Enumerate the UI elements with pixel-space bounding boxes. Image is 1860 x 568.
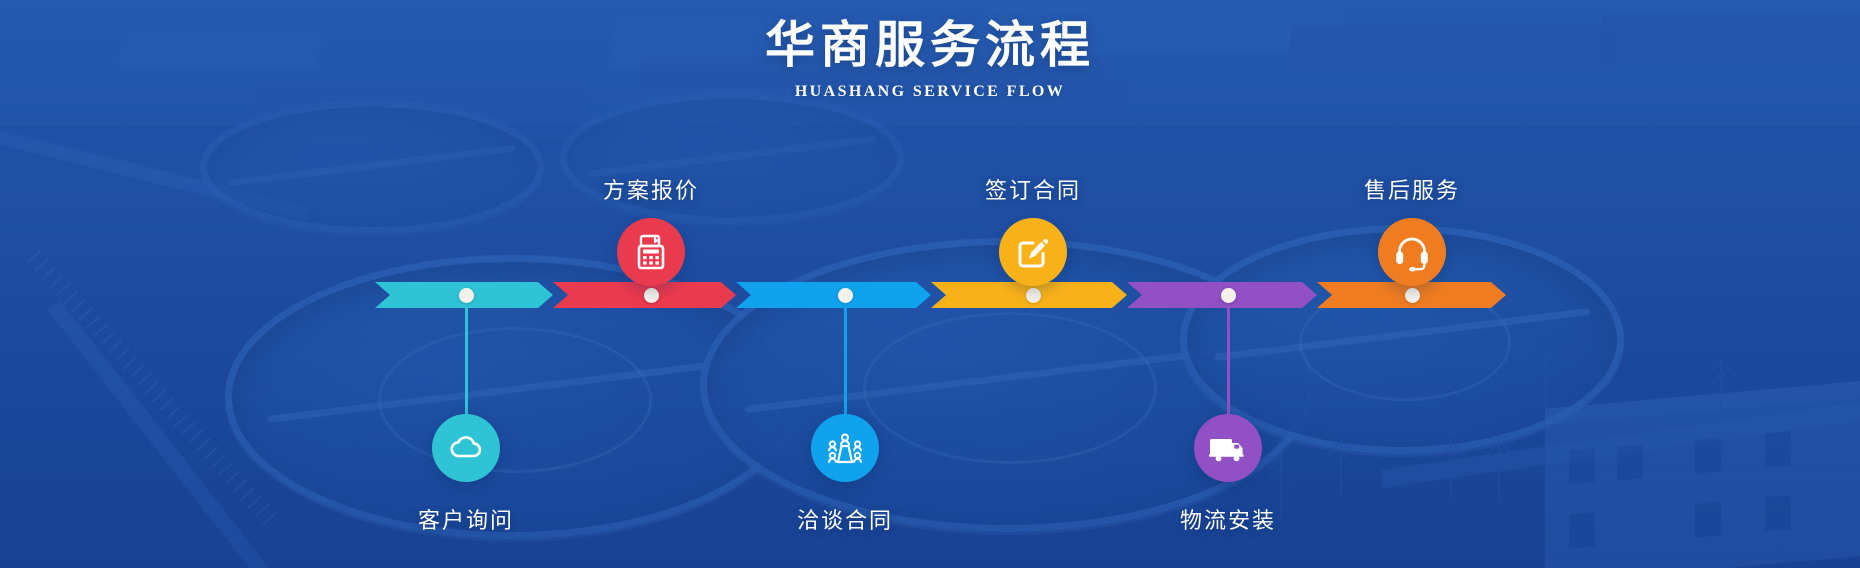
page-subtitle: HUASHANG SERVICE FLOW [0, 83, 1860, 101]
flow-connector-1 [465, 302, 468, 414]
cloud-icon[interactable] [432, 414, 500, 482]
flow-step-label-5: 物流安装 [1180, 503, 1276, 535]
flow-node-dot-6 [1405, 288, 1420, 303]
banner-heading: 华商服务流程 HUASHANG SERVICE FLOW [0, 18, 1860, 101]
flow-node-dot-5 [1221, 288, 1236, 303]
flow-node-dot-1 [459, 288, 474, 303]
pen-edit-icon[interactable] [999, 218, 1067, 286]
flow-node-dot-2 [644, 288, 659, 303]
flow-step-label-6: 售后服务 [1364, 173, 1460, 205]
flow-step-label-3: 洽谈合同 [797, 503, 893, 535]
flow-segment-3[interactable] [736, 282, 931, 308]
delivery-truck-icon[interactable] [1194, 414, 1262, 482]
flow-step-label-1: 客户询问 [418, 503, 514, 535]
headset-support-icon[interactable] [1378, 218, 1446, 286]
flow-connector-3 [844, 302, 847, 414]
flow-step-label-2: 方案报价 [603, 173, 699, 205]
calculator-receipt-icon[interactable] [617, 218, 685, 286]
flow-step-label-4: 签订合同 [985, 173, 1081, 205]
page-title: 华商服务流程 [0, 18, 1860, 72]
flow-node-dot-4 [1026, 288, 1041, 303]
flow-node-dot-3 [838, 288, 853, 303]
meeting-table-icon[interactable] [811, 414, 879, 482]
service-flow-banner: 华商服务流程 HUASHANG SERVICE FLOW 客户询问方案报价洽谈合… [0, 0, 1860, 568]
flow-connector-5 [1227, 302, 1230, 414]
